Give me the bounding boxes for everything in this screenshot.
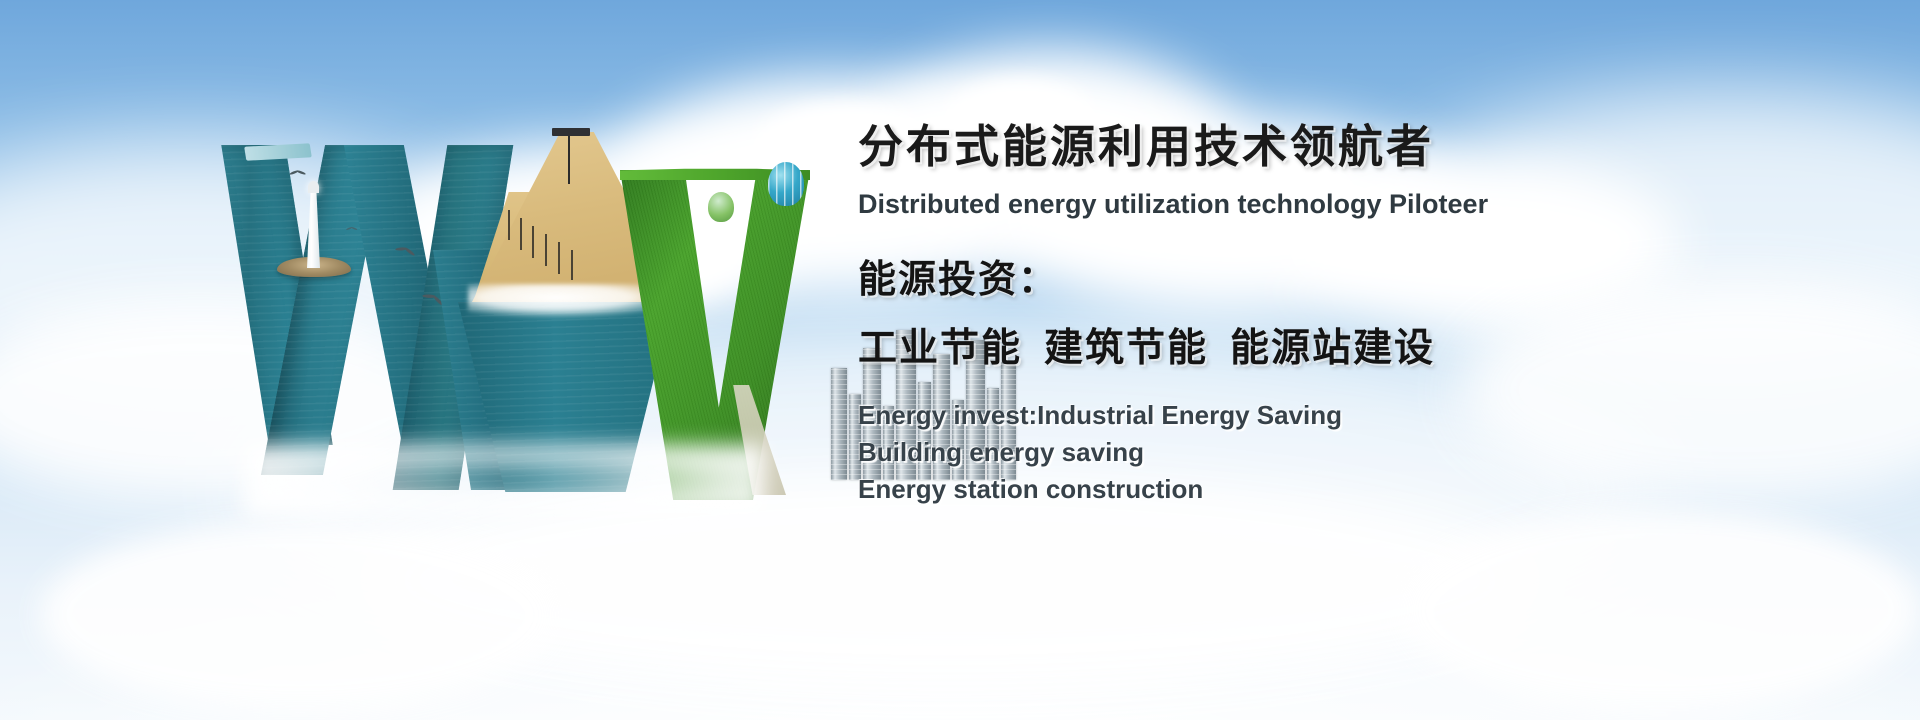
english-line-3: Energy station construction — [858, 471, 1858, 508]
english-line-1: Energy invest:Industrial Energy Saving — [858, 397, 1858, 434]
ocean-top-edge — [244, 143, 312, 160]
lighthouse-lamp-icon — [308, 181, 319, 193]
lead-label: 能源投资： — [858, 248, 1858, 303]
fence-post — [508, 210, 510, 240]
bird-icon — [346, 225, 358, 231]
service-item-1: 工业节能 — [858, 327, 1022, 370]
english-description-list: Energy invest:Industrial Energy Saving B… — [858, 397, 1858, 508]
fence-post — [532, 226, 534, 258]
page-subtitle-en: Distributed energy utilization technolog… — [858, 189, 1858, 220]
english-line-2: Building energy saving — [858, 434, 1858, 471]
artwork-base-fade — [245, 445, 765, 515]
fence-post — [558, 242, 560, 274]
hot-air-balloon-icon — [708, 192, 734, 222]
fence-post — [571, 250, 573, 280]
letter-w-land — [450, 132, 770, 482]
bird-icon — [289, 168, 307, 177]
service-item-2: 建筑节能 — [1044, 327, 1208, 370]
signpost-icon — [568, 128, 570, 184]
banner-artwork — [150, 90, 850, 520]
fence-post — [520, 218, 522, 250]
page-title: 分布式能源利用技术领航者 — [858, 124, 1858, 169]
fence-post — [545, 234, 547, 266]
hot-air-balloon-icon — [768, 162, 804, 206]
hero-banner: 分布式能源利用技术领航者 Distributed energy utilizat… — [0, 0, 1920, 720]
service-item-3: 能源站建设 — [1230, 327, 1435, 370]
service-list: 工业节能建筑节能能源站建设 — [858, 317, 1858, 373]
banner-copy: 分布式能源利用技术领航者 Distributed energy utilizat… — [858, 124, 1858, 508]
